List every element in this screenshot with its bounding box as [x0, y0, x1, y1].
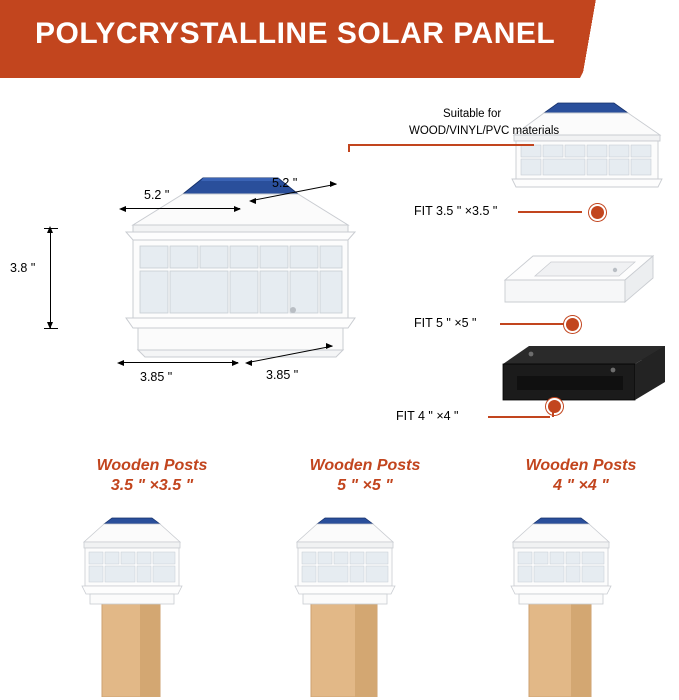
- fit-2-marker: [564, 316, 581, 333]
- post-1-title: Wooden Posts 3.5 " ×3.5 ": [52, 456, 252, 496]
- page-title: POLYCRYSTALLINE SOLAR PANEL: [35, 17, 555, 51]
- post-1-title-line2: 3.5 " ×3.5 ": [111, 477, 193, 494]
- dim-top-right-value: 5.2 ": [272, 176, 297, 190]
- dim-base-left-value: 3.85 ": [140, 370, 172, 384]
- post-3-title-line2: 4 " ×4 ": [553, 477, 609, 494]
- post-3-title-line1: Wooden Posts: [526, 457, 637, 474]
- fit-2-label: FIT 5 " ×5 ": [414, 316, 477, 330]
- post-2-title-line1: Wooden Posts: [310, 457, 421, 474]
- post-3-title: Wooden Posts 4 " ×4 ": [481, 456, 679, 496]
- suitable-line-2: WOOD/VINYL/PVC materials: [409, 125, 559, 137]
- post-2-title: Wooden Posts 5 " ×5 ": [265, 456, 465, 496]
- fit-1-marker: [589, 204, 606, 221]
- product-infographic: POLYCRYSTALLINE SOLAR PANEL: [0, 0, 679, 700]
- dim-base-right-value: 3.85 ": [266, 368, 298, 382]
- header-banner: POLYCRYSTALLINE SOLAR PANEL: [0, 0, 679, 78]
- dim-height-value: 3.8 ": [10, 261, 35, 275]
- dim-top-left-value: 5.2 ": [144, 188, 169, 202]
- suitable-line-1: Suitable for: [443, 108, 501, 120]
- post-1-title-line1: Wooden Posts: [97, 457, 208, 474]
- post-2-title-line2: 5 " ×5 ": [337, 477, 393, 494]
- fit-3-label: FIT 4 " ×4 ": [396, 409, 459, 423]
- fit-3-marker: [546, 398, 563, 415]
- fit-1-label: FIT 3.5 " ×3.5 ": [414, 204, 497, 218]
